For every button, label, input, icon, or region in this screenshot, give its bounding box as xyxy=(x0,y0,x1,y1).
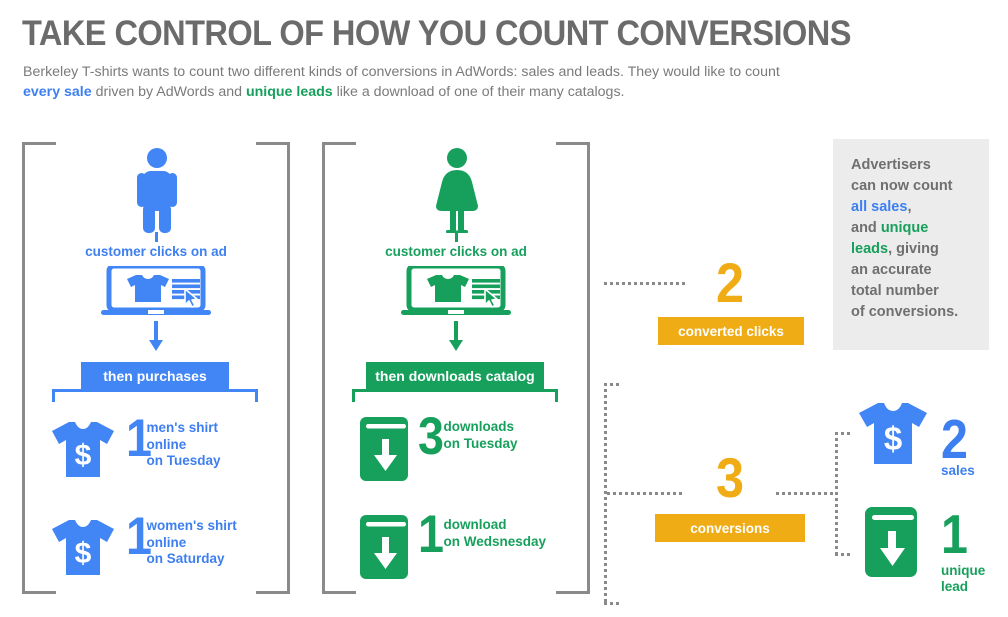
subtitle-text-1: Berkeley T-shirts wants to count two dif… xyxy=(23,64,780,80)
leads-stat-row-1: 3 downloads on Tuesday xyxy=(358,415,518,481)
sales-action-bar: then purchases xyxy=(81,362,229,389)
sales-stat-line-2b: online xyxy=(146,535,236,552)
callout-highlight-all-sales: all sales xyxy=(851,199,907,215)
callout-line-4: , giving xyxy=(888,241,939,257)
sales-stat-line-1a: men's shirt xyxy=(146,420,220,437)
subtitle-text-3: like a download of one of their many cat… xyxy=(333,84,625,100)
person-male-icon xyxy=(128,148,186,238)
laptop-shirt-ad-icon xyxy=(401,266,511,323)
tshirt-dollar-icon: $ xyxy=(48,515,118,577)
leads-stat-text-1: downloads on Tuesday xyxy=(443,415,517,452)
result-book-download-icon xyxy=(863,505,919,582)
callout-line-3: and xyxy=(851,220,881,236)
leads-connector-stub xyxy=(455,232,458,242)
sales-connector-stub xyxy=(155,232,158,242)
converted-clicks-bar: converted clicks xyxy=(658,317,804,345)
tshirt-dollar-icon: $ xyxy=(48,417,118,479)
infographic-canvas: TAKE CONTROL OF HOW YOU COUNT CONVERSION… xyxy=(0,0,1008,617)
sales-click-label: customer clicks on ad xyxy=(0,244,312,259)
leads-stat-line-1a: downloads xyxy=(443,419,517,436)
sales-panel-bracket-right xyxy=(256,142,290,594)
sales-subbracket xyxy=(52,389,258,402)
callout-line-7: of conversions. xyxy=(851,304,958,320)
book-download-icon xyxy=(358,513,410,579)
callout-highlight-unique: unique xyxy=(881,220,929,236)
leads-stat-row-2: 1 download on Wedsnesday xyxy=(358,513,546,579)
result-sales-number: 2 xyxy=(941,412,968,467)
leads-click-label: customer clicks on ad xyxy=(300,244,612,259)
result-lead-label: unique lead xyxy=(941,563,985,595)
laptop-shirt-ad-icon xyxy=(101,266,211,323)
leads-action-bar: then downloads catalog xyxy=(366,362,544,389)
sales-stat-line-2a: women's shirt xyxy=(146,518,236,535)
svg-text:$: $ xyxy=(884,420,902,457)
callout-comma: , xyxy=(907,199,911,215)
sales-stat-number-1: 1 xyxy=(126,417,152,460)
leads-stat-line-2b: on Wedsnesday xyxy=(443,534,546,551)
page-title: TAKE CONTROL OF HOW YOU COUNT CONVERSION… xyxy=(22,14,851,54)
svg-text:$: $ xyxy=(75,439,92,472)
subtitle-highlight-unique-leads: unique leads xyxy=(246,84,333,100)
sales-stat-row-1: $ 1 men's shirt online on Tuesday xyxy=(48,417,221,479)
subtitle-highlight-every-sale: every sale xyxy=(23,84,92,100)
result-lead-number: 1 xyxy=(941,507,968,562)
conversions-bar: conversions xyxy=(655,514,805,542)
callout-text: Advertisers can now count all sales, and… xyxy=(851,155,975,323)
sales-stat-number-2: 1 xyxy=(126,515,152,558)
leads-subbracket xyxy=(352,389,558,402)
sales-stat-line-1b: online xyxy=(146,437,220,454)
sales-stat-line-2c: on Saturday xyxy=(146,551,236,568)
sales-stat-row-2: $ 1 women's shirt online on Saturday xyxy=(48,515,237,577)
results-bracket-vertical xyxy=(835,432,838,556)
result-tshirt-dollar-icon: $ xyxy=(855,398,931,471)
results-bracket-bottom xyxy=(835,553,852,556)
callout-line-5: an accurate xyxy=(851,262,932,278)
subtitle-text-2: driven by AdWords and xyxy=(92,84,246,100)
leads-stat-line-1b: on Tuesday xyxy=(443,436,517,453)
converted-clicks-number: 2 xyxy=(667,255,793,311)
conversions-bracket-top xyxy=(604,383,620,386)
leads-stat-line-2a: download xyxy=(443,517,546,534)
connector-to-results xyxy=(776,492,838,495)
svg-text:$: $ xyxy=(75,537,92,570)
arrow-down-icon xyxy=(148,321,164,356)
book-download-icon xyxy=(358,415,410,481)
results-bracket-top xyxy=(835,432,852,435)
callout-line-1: Advertisers xyxy=(851,157,931,173)
callout-box: Advertisers can now count all sales, and… xyxy=(833,139,989,350)
conversions-number: 3 xyxy=(667,450,793,506)
sales-stat-text-1: men's shirt online on Tuesday xyxy=(146,417,220,470)
result-lead-label-line2: lead xyxy=(941,579,985,595)
sales-stat-text-2: women's shirt online on Saturday xyxy=(146,515,236,568)
sales-stat-line-1c: on Tuesday xyxy=(146,453,220,470)
leads-stat-text-2: download on Wedsnesday xyxy=(443,513,546,550)
callout-highlight-leads: leads xyxy=(851,241,888,257)
result-sales-label: sales xyxy=(941,463,975,479)
result-lead-label-line1: unique xyxy=(941,563,985,579)
leads-stat-number-2: 1 xyxy=(418,513,444,556)
leads-panel-bracket-left xyxy=(322,142,356,594)
person-female-icon xyxy=(428,148,486,238)
callout-line-2: can now count xyxy=(851,178,953,194)
page-subtitle: Berkeley T-shirts wants to count two dif… xyxy=(23,62,783,102)
leads-stat-number-1: 3 xyxy=(418,415,444,458)
callout-line-6: total number xyxy=(851,283,939,299)
arrow-down-icon xyxy=(448,321,464,356)
conversions-bracket-bottom xyxy=(604,602,620,605)
leads-panel-bracket-right xyxy=(556,142,590,594)
